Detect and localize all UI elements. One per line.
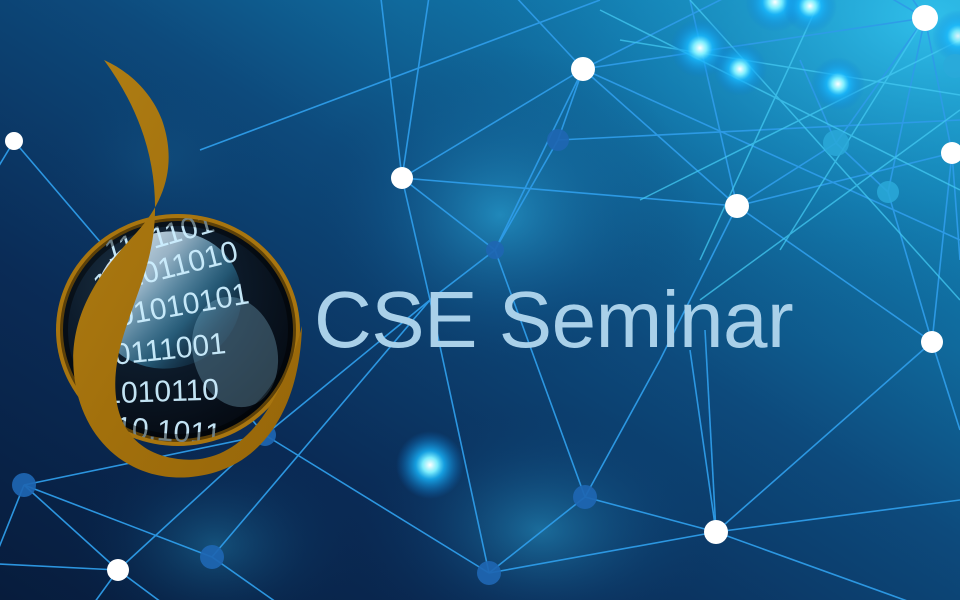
cse-seminar-banner: 1101101 101011010 0101010101 110111001 0… bbox=[0, 0, 960, 600]
center-glow bbox=[300, 45, 700, 385]
banner-artwork: 1101101 101011010 0101010101 110111001 0… bbox=[0, 0, 960, 600]
